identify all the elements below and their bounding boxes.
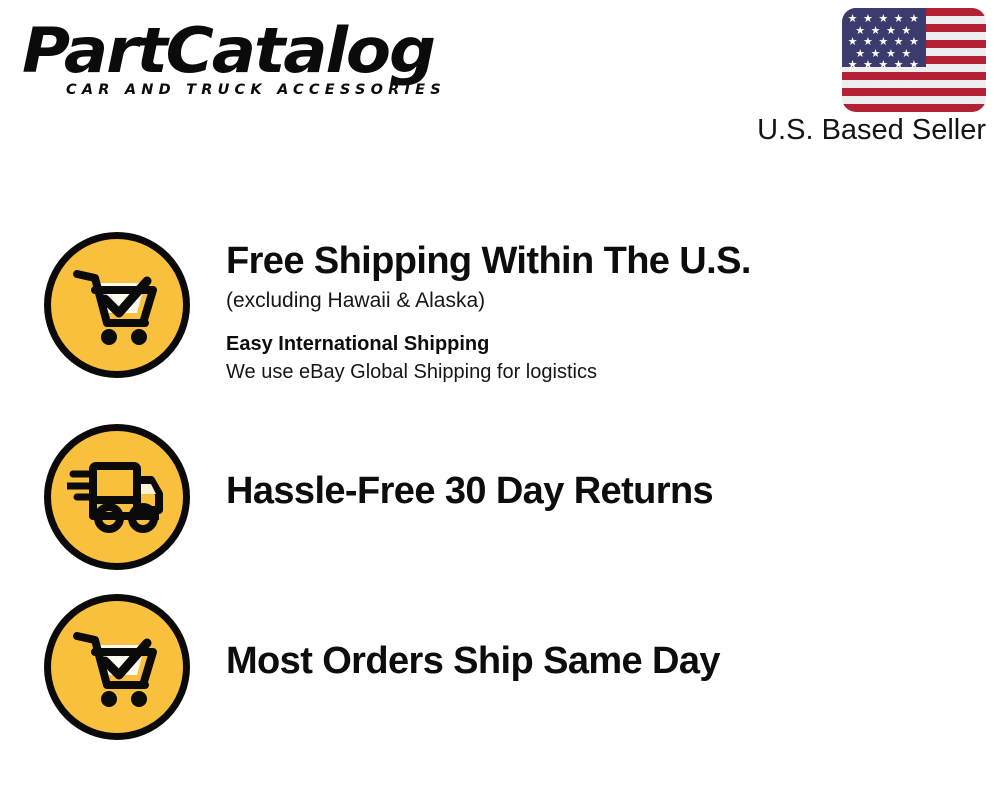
us-based-seller-label: U.S. Based Seller [716, 114, 986, 147]
flag-stars: ★ ★ ★ ★ ★ ★ ★ ★ ★ ★ ★ ★ ★ ★ ★ ★ ★ ★ ★ ★ … [842, 8, 926, 67]
feature-text: Hassle-Free 30 Day Returns [226, 424, 1000, 514]
feature-text: Most Orders Ship Same Day [226, 594, 1000, 684]
feature-title: Most Orders Ship Same Day [226, 638, 1000, 684]
feature-secondary-title: Easy International Shipping [226, 330, 1000, 358]
brand-wordmark: PartCatalog [22, 16, 520, 86]
delivery-truck-icon [44, 424, 190, 570]
brand-logo: PartCatalog CAR AND TRUCK ACCESSORIES [22, 16, 492, 116]
promo-banner: PartCatalog CAR AND TRUCK ACCESSORIES ★ … [0, 0, 1000, 800]
us-based-seller-badge: ★ ★ ★ ★ ★ ★ ★ ★ ★ ★ ★ ★ ★ ★ ★ ★ ★ ★ ★ ★ … [716, 8, 986, 147]
feature-title: Free Shipping Within The U.S. [226, 238, 1000, 284]
feature-row: Free Shipping Within The U.S. (excluding… [0, 232, 1000, 386]
feature-row: Hassle-Free 30 Day Returns [0, 424, 1000, 570]
feature-subtitle: (excluding Hawaii & Alaska) [226, 286, 1000, 316]
feature-row: Most Orders Ship Same Day [0, 594, 1000, 740]
shopping-cart-check-icon [44, 594, 190, 740]
feature-text: Free Shipping Within The U.S. (excluding… [226, 232, 1000, 386]
shopping-cart-check-icon [44, 232, 190, 378]
feature-secondary-text: We use eBay Global Shipping for logistic… [226, 358, 1000, 386]
feature-title: Hassle-Free 30 Day Returns [226, 468, 1000, 514]
us-flag-icon: ★ ★ ★ ★ ★ ★ ★ ★ ★ ★ ★ ★ ★ ★ ★ ★ ★ ★ ★ ★ … [842, 8, 986, 112]
